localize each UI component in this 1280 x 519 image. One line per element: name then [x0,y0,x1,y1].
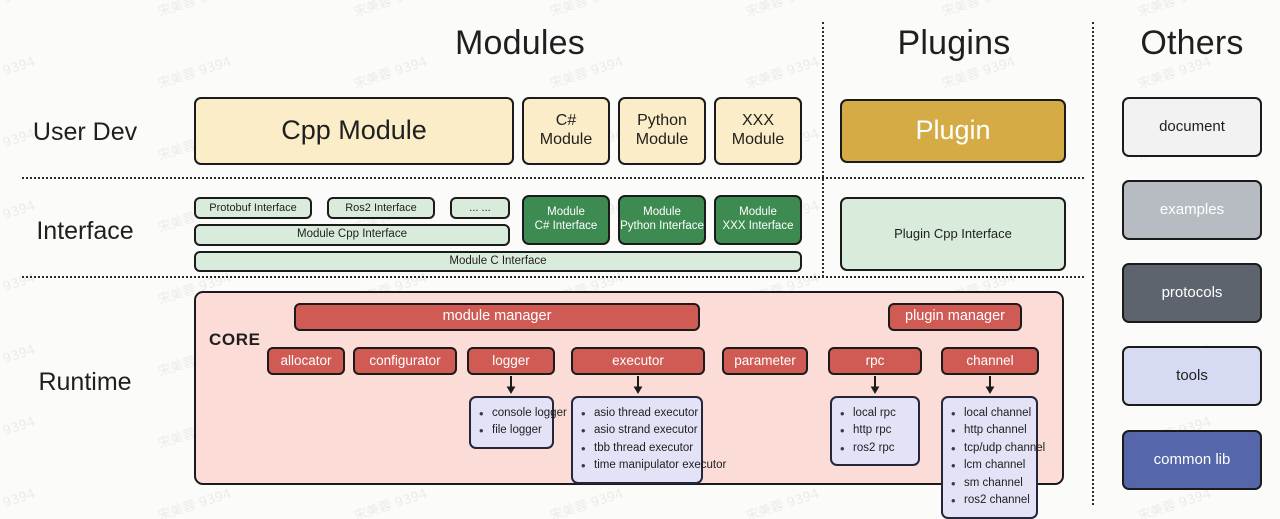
box-module-c-interface[interactable]: Module C Interface [194,251,802,272]
box-plugin-manager-label: plugin manager [905,308,1005,325]
box-plugin-manager[interactable]: plugin manager [888,303,1022,331]
box-others-examples[interactable]: examples [1122,180,1262,240]
box-csharp-module-label: C# Module [540,112,592,150]
sublist-item: file logger [479,422,543,439]
box-ros2-interface-label: Ros2 Interface [345,202,417,215]
box-others-document-label: document [1159,118,1225,136]
box-rpc[interactable]: rpc [828,347,922,375]
divider-plugins-others [1092,22,1094,505]
box-others-protocols-label: protocols [1162,284,1223,302]
box-others-document[interactable]: document [1122,97,1262,157]
sublist-executor-items: asio thread executorasio strand executor… [581,405,692,475]
watermark-text: 宋美蓉 9394 [351,0,429,20]
divider-modules-plugins [822,22,824,277]
box-xxx-module[interactable]: XXX Module [714,97,802,165]
watermark-text: 宋美蓉 9394 [351,483,429,519]
box-module-python-interface[interactable]: Module Python Interface [618,195,706,245]
watermark-text: 宋美蓉 9394 [743,51,821,93]
box-configurator[interactable]: configurator [353,347,457,375]
sublist-item: local channel [951,405,1027,422]
box-executor[interactable]: executor [571,347,705,375]
box-module-manager-label: module manager [443,308,552,325]
sublist-logger: console loggerfile logger [469,396,554,449]
column-header-others: Others [1110,24,1274,63]
sublist-item: asio strand executor [581,422,692,439]
sublist-channel: local channelhttp channeltcp/udp channel… [941,396,1038,519]
watermark-text: 宋美蓉 9394 [155,483,233,519]
watermark-text: 宋美蓉 9394 [547,483,625,519]
arrow-channel-down [983,376,997,395]
box-cpp-module-label: Cpp Module [281,115,427,147]
box-others-tools-label: tools [1176,367,1208,385]
box-others-protocols[interactable]: protocols [1122,263,1262,323]
sublist-executor: asio thread executorasio strand executor… [571,396,703,484]
box-allocator-label: allocator [280,353,331,369]
box-parameter[interactable]: parameter [722,347,808,375]
column-header-modules: Modules [352,24,688,63]
box-python-module-label: Python Module [636,112,688,150]
box-others-common-lib[interactable]: common lib [1122,430,1262,490]
row-label-runtime: Runtime [0,368,170,397]
box-channel[interactable]: channel [941,347,1039,375]
watermark-text: 宋美蓉 9394 [0,0,37,20]
sublist-item: ros2 rpc [840,440,909,457]
box-plugin-cpp-interface[interactable]: Plugin Cpp Interface [840,197,1066,271]
box-module-c-interface-label: Module C Interface [449,255,546,269]
watermark-text: 宋美蓉 9394 [0,267,37,309]
arrow-rpc-down [868,376,882,395]
watermark-text: 宋美蓉 9394 [743,0,821,20]
box-logger-label: logger [492,353,530,369]
watermark-text: 宋美蓉 9394 [155,51,233,93]
box-channel-label: channel [966,353,1013,369]
box-parameter-label: parameter [734,353,796,369]
sublist-rpc-items: local rpchttp rpcros2 rpc [840,405,909,457]
sublist-channel-items: local channelhttp channeltcp/udp channel… [951,405,1027,510]
column-header-plugins: Plugins [838,24,1070,63]
sublist-item: ros2 channel [951,492,1027,509]
watermark-text: 宋美蓉 9394 [155,0,233,20]
box-plugin-cpp-interface-label: Plugin Cpp Interface [894,226,1012,241]
watermark-text: 宋美蓉 9394 [0,483,37,519]
box-configurator-label: configurator [369,353,440,369]
box-csharp-module[interactable]: C# Module [522,97,610,165]
watermark-text: 宋美蓉 9394 [743,483,821,519]
box-cpp-module[interactable]: Cpp Module [194,97,514,165]
row-label-interface: Interface [0,217,170,246]
box-module-xxx-interface[interactable]: Module XXX Interface [714,195,802,245]
box-ellipsis-interface[interactable]: ... ... [450,197,510,219]
row-label-user-dev: User Dev [0,118,170,147]
sublist-item: local rpc [840,405,909,422]
core-label: CORE [209,330,261,350]
box-module-cpp-interface[interactable]: Module Cpp Interface [194,224,510,246]
sublist-item: time manipulator executor [581,457,692,474]
watermark-text: 宋美蓉 9394 [0,51,37,93]
box-allocator[interactable]: allocator [267,347,345,375]
watermark-text: 宋美蓉 9394 [939,0,1017,20]
box-python-module[interactable]: Python Module [618,97,706,165]
box-plugin-label: Plugin [915,115,990,147]
box-module-python-interface-label: Module Python Interface [620,206,704,233]
sublist-item: console logger [479,405,543,422]
sublist-item: asio thread executor [581,405,692,422]
box-module-cpp-interface-label: Module Cpp Interface [297,228,407,242]
arrow-executor-down [631,376,645,395]
box-plugin[interactable]: Plugin [840,99,1066,163]
box-others-examples-label: examples [1160,201,1224,219]
box-ros2-interface[interactable]: Ros2 Interface [327,197,435,219]
box-rpc-label: rpc [866,353,885,369]
sublist-item: tbb thread executor [581,440,692,457]
sublist-item: lcm channel [951,457,1027,474]
box-protobuf-interface[interactable]: Protobuf Interface [194,197,312,219]
divider-userdev-interface [22,177,1084,179]
box-xxx-module-label: XXX Module [732,112,784,150]
box-others-common-lib-label: common lib [1154,451,1231,469]
box-others-tools[interactable]: tools [1122,346,1262,406]
box-ellipsis-interface-label: ... ... [469,202,490,215]
divider-interface-runtime [22,276,1084,278]
sublist-item: http rpc [840,422,909,439]
sublist-item: sm channel [951,475,1027,492]
sublist-logger-items: console loggerfile logger [479,405,543,440]
watermark-text: 宋美蓉 9394 [547,0,625,20]
box-module-csharp-interface-label: Module C# Interface [535,206,598,233]
box-protobuf-interface-label: Protobuf Interface [209,202,296,215]
sublist-rpc: local rpchttp rpcros2 rpc [830,396,920,466]
box-module-csharp-interface[interactable]: Module C# Interface [522,195,610,245]
sublist-item: tcp/udp channel [951,440,1027,457]
sublist-item: http channel [951,422,1027,439]
watermark-text: 宋美蓉 9394 [0,411,37,453]
watermark-text: 宋美蓉 9394 [1135,0,1213,20]
box-module-manager[interactable]: module manager [294,303,700,331]
box-logger[interactable]: logger [467,347,555,375]
arrow-logger-down [504,376,518,395]
box-executor-label: executor [612,353,664,369]
box-module-xxx-interface-label: Module XXX Interface [723,206,794,233]
